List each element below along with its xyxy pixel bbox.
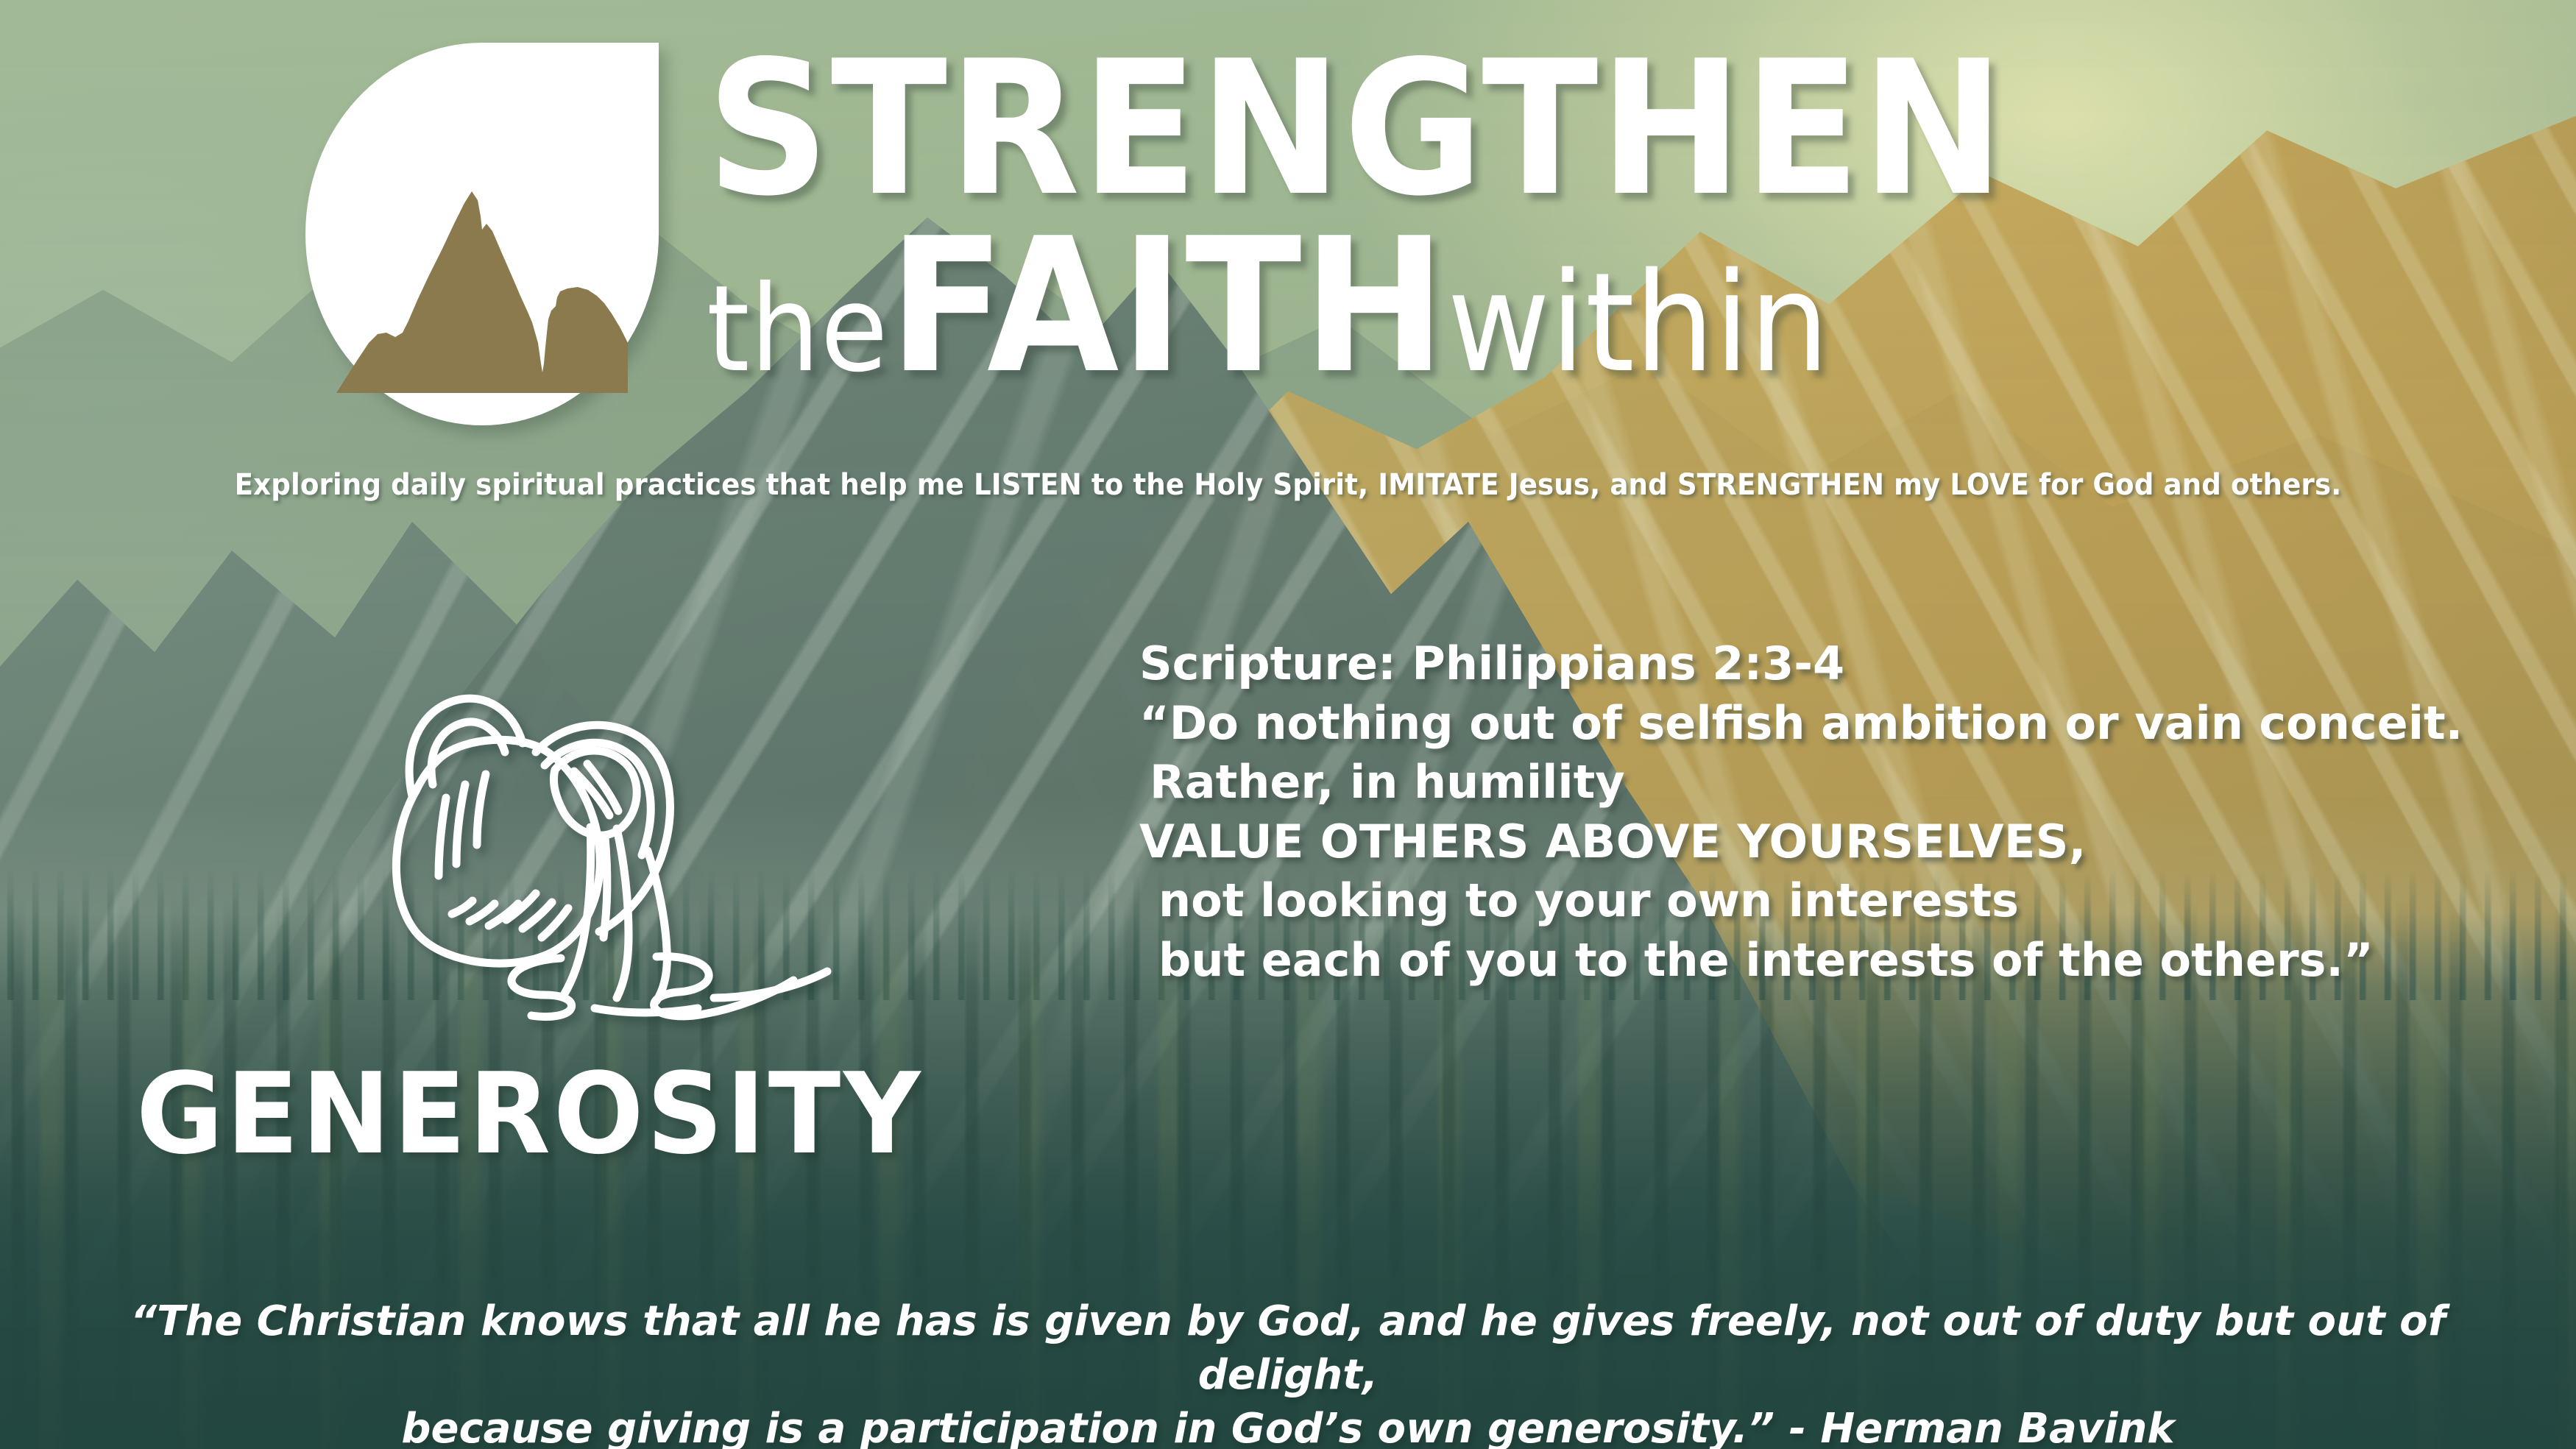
pouring-pitcher-icon [302, 640, 949, 1023]
title-within: within [1447, 243, 1829, 403]
title-strengthen: STRENGTHEN [707, 44, 2332, 215]
title-faith-line: theFAITHwithin [707, 199, 2332, 414]
brand-logo [305, 43, 659, 425]
headline-block: STRENGTHEN theFAITHwithin [707, 44, 2473, 414]
scripture-line-5: but each of you to the interests of the … [1139, 931, 2552, 991]
bottom-quote-block: “The Christian knows that all he has is … [81, 1295, 2495, 1449]
scripture-line-4: not looking to your own interests [1139, 871, 2552, 931]
poster-canvas: STRENGTHEN theFAITHwithin Exploring dail… [0, 0, 2576, 1449]
tagline-text: Exploring daily spiritual practices that… [91, 468, 2486, 502]
scripture-line-2: Rather, in humility [1139, 753, 2552, 812]
scripture-reference: Scripture: Philippians 2:3-4 [1139, 634, 2552, 694]
scripture-line-3: VALUE OTHERS ABOVE YOURSELVES, [1139, 812, 2552, 872]
mountain-cross-icon [335, 153, 629, 396]
title-the: the [707, 261, 888, 399]
poster-content: STRENGTHEN theFAITHwithin Exploring dail… [0, 0, 2576, 1449]
scripture-block: Scripture: Philippians 2:3-4 “Do nothing… [1139, 634, 2552, 991]
title-faith: FAITH [888, 199, 1447, 414]
quote-line-1: “The Christian knows that all he has is … [81, 1295, 2495, 1403]
quote-line-2: because giving is a participation in God… [81, 1403, 2495, 1449]
topic-label: GENEROSITY [136, 1049, 923, 1179]
scripture-line-1: “Do nothing out of selfish ambition or v… [1139, 694, 2552, 754]
